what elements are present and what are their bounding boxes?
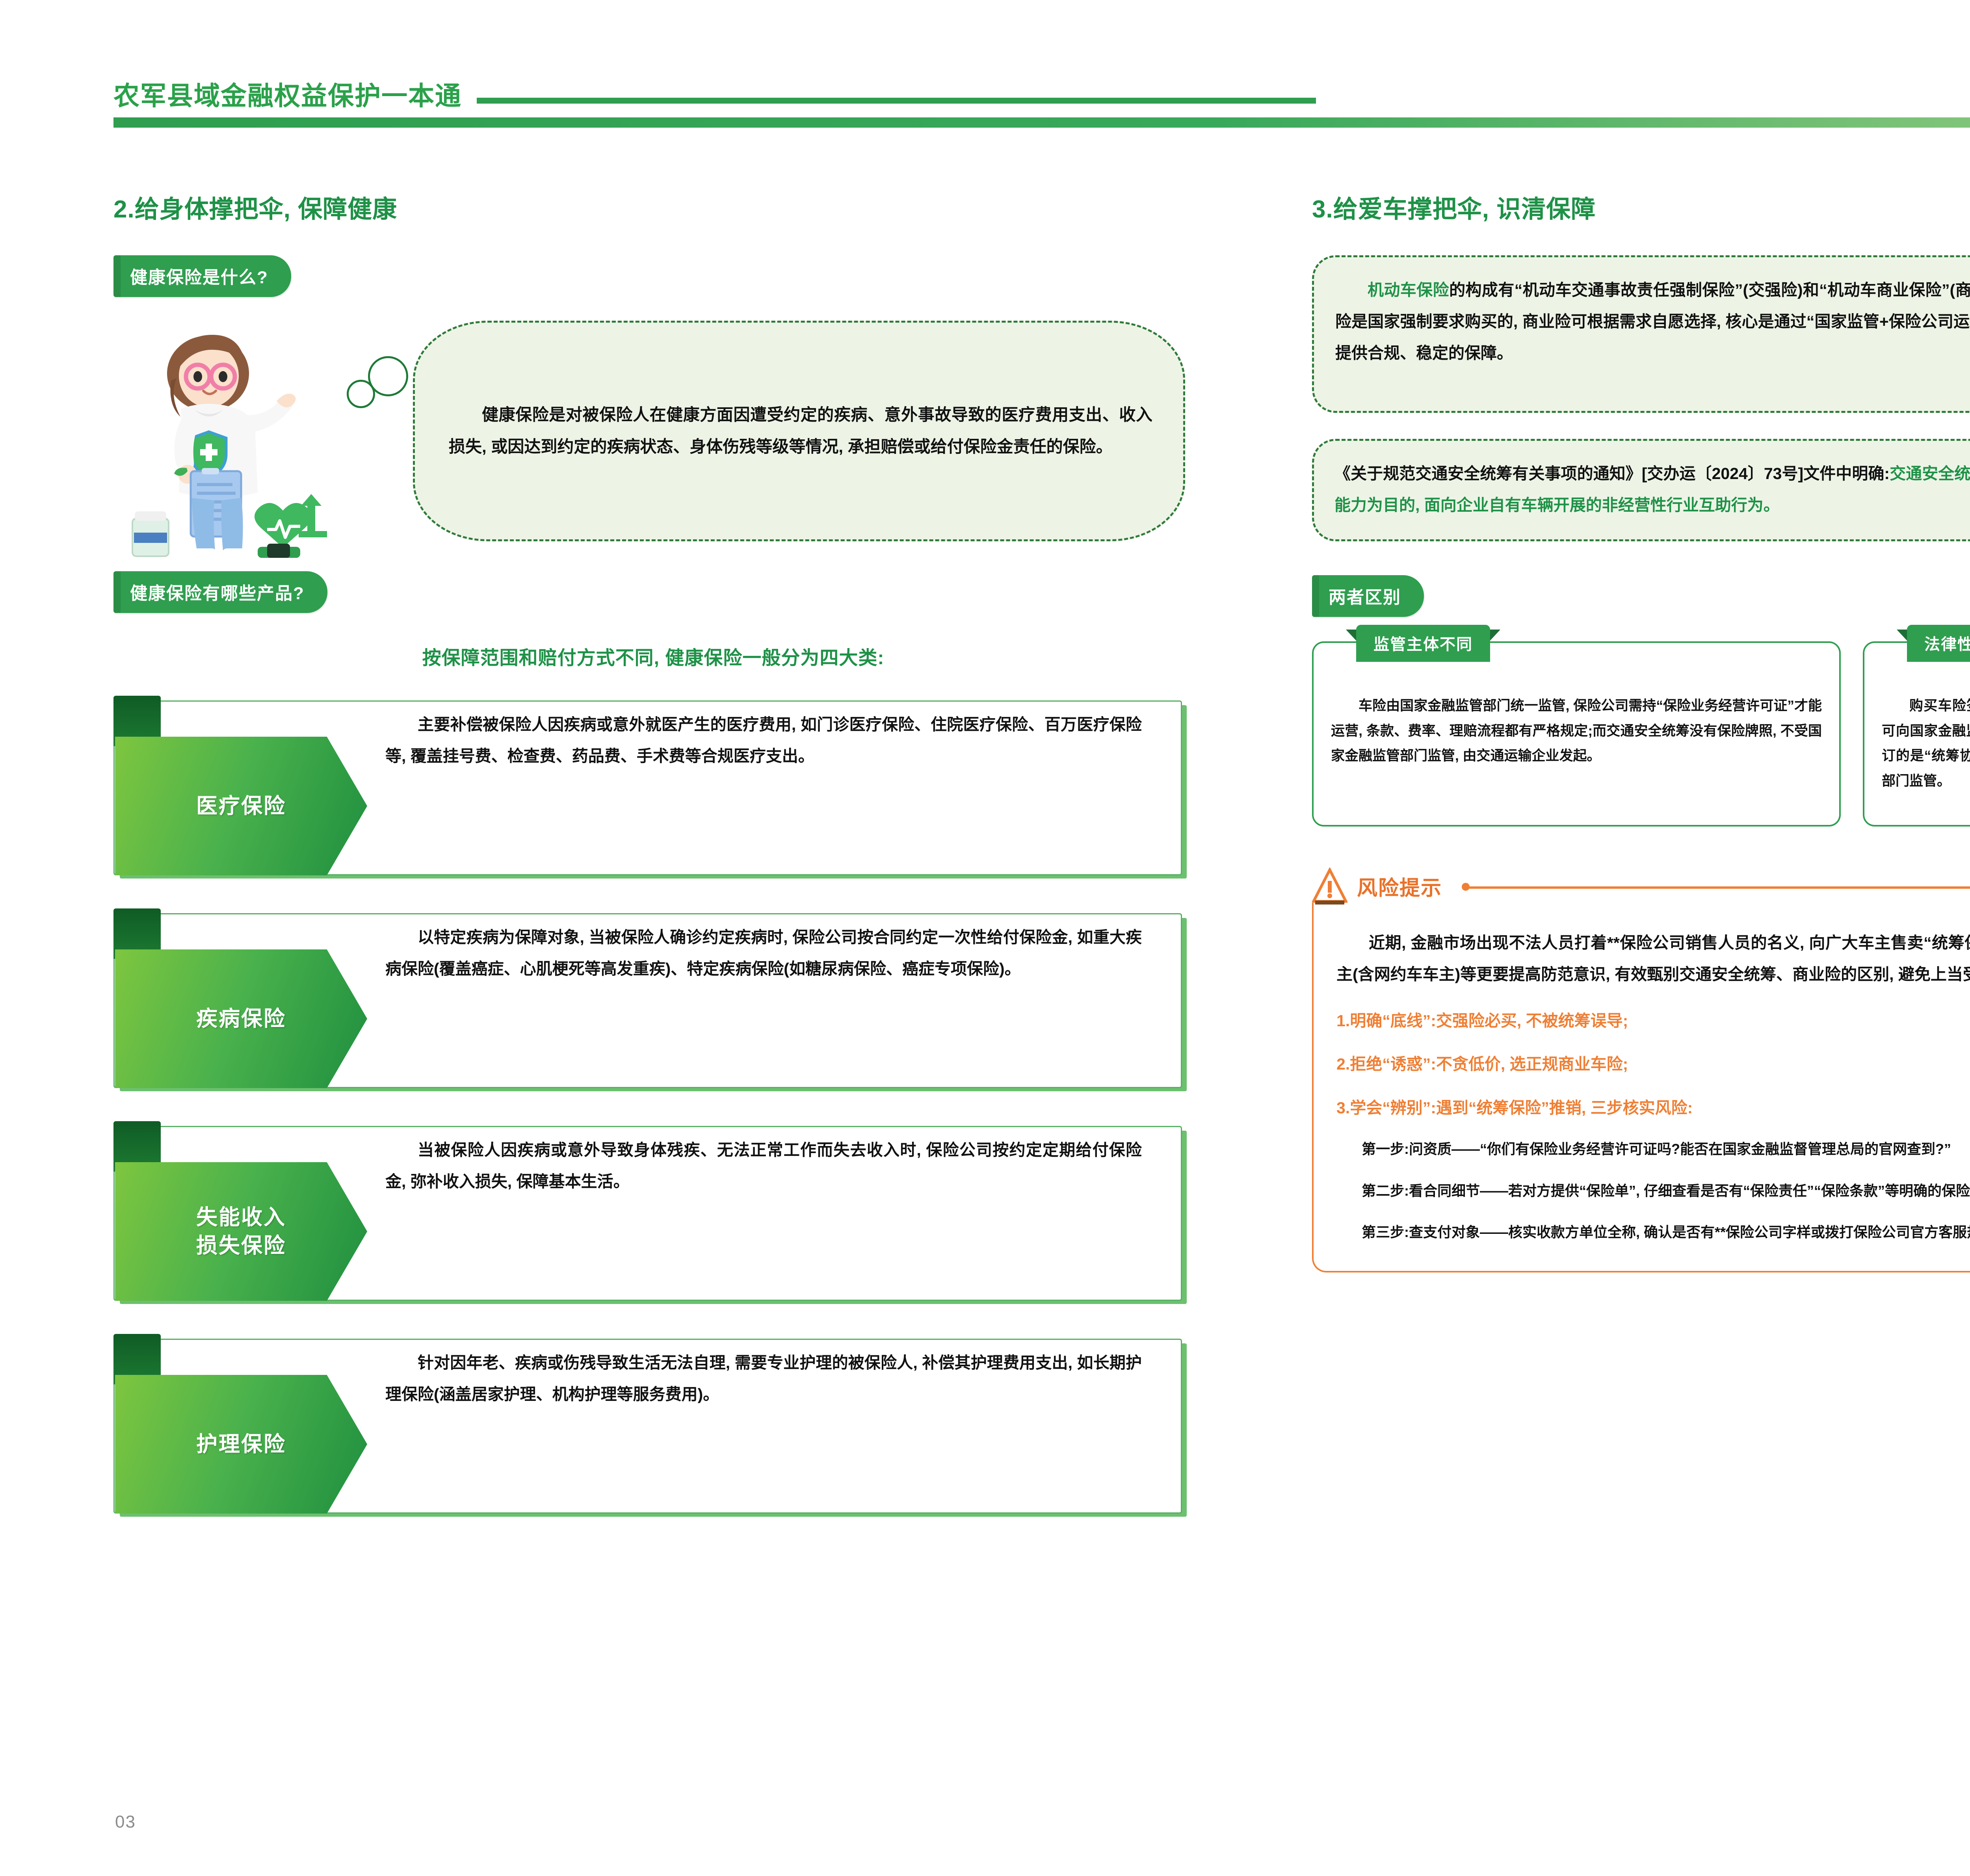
compare-card-text: 购买车险签订的是“保险合同”, 受《保险法》保护, 一旦发生保险合同纠纷, 可向… — [1882, 693, 1970, 794]
category-ribbon: 失能收入 损失保险 — [115, 1162, 367, 1301]
badge-health-insurance-products: 健康保险有哪些产品? — [113, 571, 327, 613]
verify-step-2-body: 若对方提供“保险单”, 仔细查看是否有“保险责任”“保险条款”等明确的保险字样。 — [1508, 1183, 1970, 1199]
verify-step-1-dash: —— — [1451, 1141, 1480, 1157]
compare-card-text: 车险由国家金融监管部门统一监管, 保险公司需持“保险业务经营许可证”才能运营, … — [1331, 693, 1822, 769]
risk-warning-header: 风险提示 — [1312, 867, 1970, 905]
regulation-quote-text: 《关于规范交通安全统筹有关事项的通知》[交办运〔2024〕73号]文件中明确:交… — [1334, 458, 1970, 521]
risk-item-1: 1.明确“底线”:交强险必买, 不被统筹误导; — [1336, 1008, 1970, 1034]
compare-cards-row: 监管主体不同 车险由国家金融监管部门统一监管, 保险公司需持“保险业务经营许可证… — [1312, 641, 1970, 827]
risk-warning-paragraph: 近期, 金融市场出现不法人员打着**保险公司销售人员的名义, 向广大车主售卖“统… — [1336, 927, 1970, 990]
left-column: 2.给身体撑把伞, 保障健康 健康保险是什么? — [113, 189, 1193, 1547]
verify-step-1-label: 第一步:问资质 — [1362, 1141, 1451, 1157]
category-card-medical: 医疗保险 主要补偿被保险人因疾病或意外就医产生的医疗费用, 如门诊医疗保险、住院… — [113, 696, 1189, 880]
category-ribbon: 护理保险 — [115, 1375, 367, 1514]
category-name: 护理保险 — [196, 1430, 286, 1458]
categories-lead-text: 按保障范围和赔付方式不同, 健康保险一般分为四大类: — [113, 642, 1193, 670]
definition-block: 健康保险是对被保险人在健康方面因遭受约定的疾病、意外事故导致的医疗费用支出、收入… — [113, 314, 1193, 558]
left-section-title: 2.给身体撑把伞, 保障健康 — [113, 189, 1193, 225]
category-description: 针对因年老、疾病或伤残导致生活无法自理, 需要专业护理的被保险人, 补偿其护理费… — [385, 1347, 1142, 1410]
header-rule-accent — [477, 98, 1316, 104]
verify-step-2: 第二步:看合同细节——若对方提供“保险单”, 仔细查看是否有“保险责任”“保险条… — [1336, 1178, 1970, 1204]
badge-what-is-health-insurance: 健康保险是什么? — [113, 255, 291, 297]
doctor-illustration — [117, 314, 409, 558]
verify-step-3-body: 核实收款方单位全称, 确认是否有**保险公司字样或拨打保险公司官方客服热线核实收… — [1508, 1224, 1970, 1240]
verify-step-1: 第一步:问资质——“你们有保险业务经营许可证吗?能否在国家金融监督管理总局的官网… — [1336, 1136, 1970, 1163]
right-section-title: 3.给爱车撑把伞, 识清保障 — [1312, 189, 1970, 225]
decorative-circle-large — [368, 356, 408, 396]
right-column: 3.给爱车撑把伞, 识清保障 机动车保险的构成有“机动车交通事故责任强制保险”(… — [1312, 189, 1970, 1272]
category-description: 主要补偿被保险人因疾病或意外就医产生的医疗费用, 如门诊医疗保险、住院医疗保险、… — [385, 709, 1142, 772]
compare-card-tab: 监管主体不同 — [1356, 625, 1490, 662]
page-number-left: 03 — [115, 1812, 136, 1832]
category-card-disease: 疾病保险 以特定疾病为保障对象, 当被保险人确诊约定疾病时, 保险公司按合同约定… — [113, 908, 1189, 1093]
page-header: 农军县域金融权益保护一本通 — [0, 0, 1970, 130]
header-rule-main — [113, 117, 1970, 128]
category-card-nursing: 护理保险 针对因年老、疾病或伤残导致生活无法自理, 需要专业护理的被保险人, 补… — [113, 1334, 1189, 1518]
category-ribbon: 医疗保险 — [115, 737, 367, 875]
regulation-quote-plain: 《关于规范交通安全统筹有关事项的通知》[交办运〔2024〕73号]文件中明确: — [1334, 464, 1890, 483]
category-card-disability-income: 失能收入 损失保险 当被保险人因疾病或意外导致身体残疾、无法正常工作而失去收入时… — [113, 1121, 1189, 1306]
compare-card-regulator: 监管主体不同 车险由国家金融监管部门统一监管, 保险公司需持“保险业务经营许可证… — [1312, 641, 1841, 827]
category-description: 当被保险人因疾病或意外导致身体残疾、无法正常工作而失去收入时, 保险公司按约定定… — [385, 1135, 1142, 1198]
risk-item-3: 3.学会“辨别”:遇到“统筹保险”推销, 三步核实风险: — [1336, 1095, 1970, 1121]
compare-card-legal-nature: 法律性质不同 购买车险签订的是“保险合同”, 受《保险法》保护, 一旦发生保险合… — [1863, 641, 1970, 827]
verify-step-3-dash: —— — [1480, 1224, 1508, 1240]
motor-insurance-intro-box: 机动车保险的构成有“机动车交通事故责任强制保险”(交强险)和“机动车商业保险”(… — [1312, 255, 1970, 413]
category-description: 以特定疾病为保障对象, 当被保险人确诊约定疾病时, 保险公司按合同约定一次性给付… — [385, 922, 1142, 985]
verify-step-2-label: 第二步:看合同细节 — [1362, 1183, 1480, 1199]
risk-warning-body: 近期, 金融市场出现不法人员打着**保险公司销售人员的名义, 向广大车主售卖“统… — [1312, 903, 1970, 1272]
verify-step-3: 第三步:查支付对象——核实收款方单位全称, 确认是否有**保险公司字样或拨打保险… — [1336, 1219, 1970, 1246]
risk-item-2: 2.拒绝“诱惑”:不贪低价, 选正规商业车险; — [1336, 1051, 1970, 1077]
compare-section-header: 两者区别 — [1312, 575, 1970, 617]
compare-card-tab: 法律性质不同 — [1907, 625, 1970, 662]
warning-triangle-icon — [1312, 867, 1347, 905]
badge-two-differences: 两者区别 — [1312, 575, 1424, 617]
document-title: 农军县域金融权益保护一本通 — [113, 75, 462, 113]
verify-step-3-label: 第三步:查支付对象 — [1362, 1224, 1480, 1240]
motor-insurance-intro-text: 机动车保险的构成有“机动车交通事故责任强制保险”(交强险)和“机动车商业保险”(… — [1335, 275, 1970, 369]
risk-warning-section: 风险提示 近期, 金融市场出现不法人员打着**保险公司销售人员的名义, 向广大车… — [1312, 867, 1970, 1272]
health-insurance-definition-bubble: 健康保险是对被保险人在健康方面因遭受约定的疾病、意外事故导致的医疗费用支出、收入… — [413, 321, 1185, 541]
verify-step-1-body: “你们有保险业务经营许可证吗?能否在国家金融监督管理总局的官网查到?” — [1480, 1141, 1951, 1157]
health-insurance-definition-text: 健康保险是对被保险人在健康方面因遭受约定的疾病、意外事故导致的医疗费用支出、收入… — [415, 399, 1183, 462]
category-ribbon: 疾病保险 — [115, 949, 367, 1088]
motor-insurance-keyword: 机动车保险 — [1368, 281, 1449, 299]
regulation-quote-box: 《关于规范交通安全统筹有关事项的通知》[交办运〔2024〕73号]文件中明确:交… — [1312, 439, 1970, 541]
category-name: 医疗保险 — [196, 792, 286, 820]
category-name: 疾病保险 — [196, 1005, 286, 1033]
risk-warning-title: 风险提示 — [1357, 871, 1442, 901]
category-name: 失能收入 损失保险 — [196, 1203, 286, 1260]
verify-step-2-dash: —— — [1480, 1183, 1508, 1199]
